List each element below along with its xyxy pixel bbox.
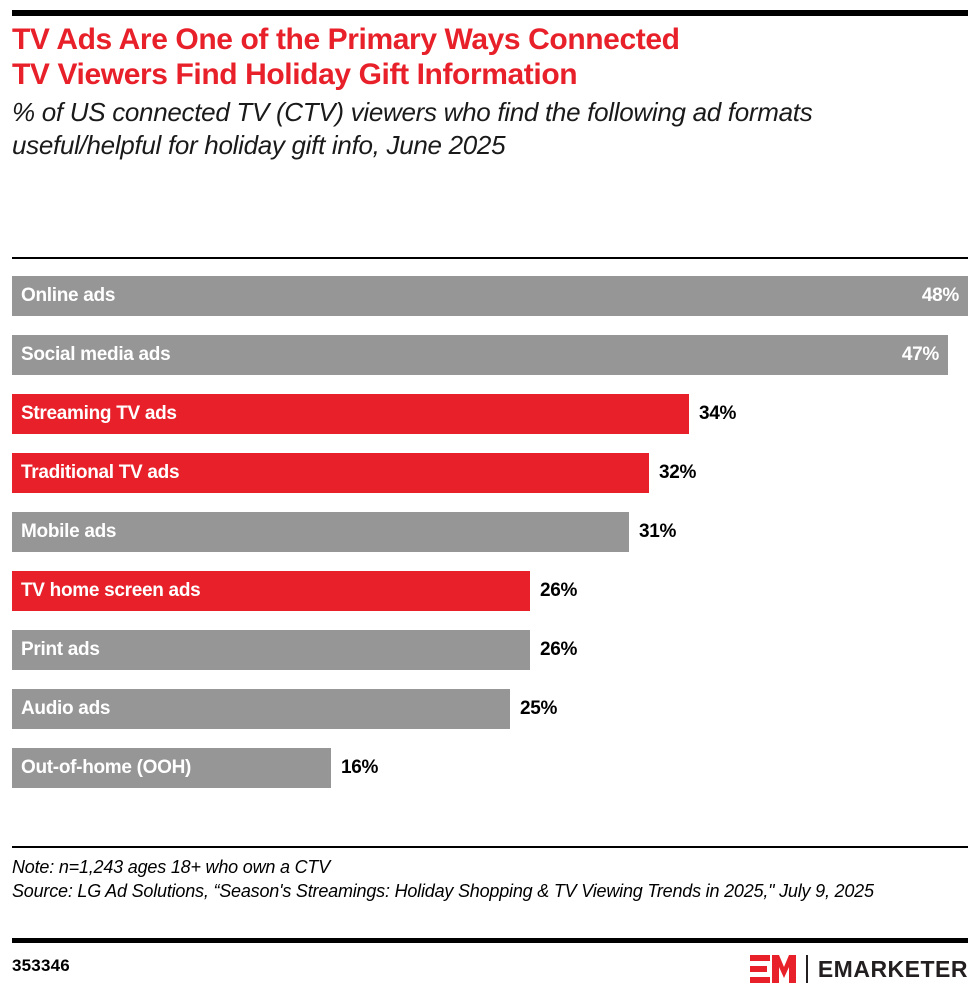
bar-category-label: Audio ads	[12, 698, 110, 720]
bar-row: Traditional TV ads32%	[12, 453, 968, 493]
top-rule	[12, 10, 968, 16]
chart-title: TV Ads Are One of the Primary Ways Conne…	[12, 22, 956, 92]
bar-value-label: 25%	[520, 698, 557, 720]
bar: Audio ads	[12, 689, 510, 729]
bar-row: Audio ads25%	[12, 689, 968, 729]
emarketer-logo: EMARKETER	[750, 952, 968, 986]
bar-category-label: Social media ads	[12, 344, 170, 366]
bar-category-label: Print ads	[12, 639, 100, 661]
bar-value-label: 34%	[699, 403, 736, 425]
bar-value-label: 32%	[659, 462, 696, 484]
source-line: Source: LG Ad Solutions, “Season's Strea…	[12, 879, 956, 903]
bar-value-label: 48%	[922, 285, 959, 307]
bar-category-label: Online ads	[12, 285, 115, 307]
bar-category-label: TV home screen ads	[12, 580, 200, 602]
bar-category-label: Out-of-home (OOH)	[12, 757, 191, 779]
logo-divider	[806, 955, 808, 983]
bar: Traditional TV ads	[12, 453, 649, 493]
bar: Out-of-home (OOH)	[12, 748, 331, 788]
em-monogram-icon	[750, 954, 796, 984]
bar: Mobile ads	[12, 512, 629, 552]
chart-page: TV Ads Are One of the Primary Ways Conne…	[0, 0, 980, 997]
footer-rule	[12, 938, 968, 943]
bar-row: Print ads26%	[12, 630, 968, 670]
bar-value-label: 31%	[639, 521, 676, 543]
bar: Print ads	[12, 630, 530, 670]
notes-divider-rule	[12, 846, 968, 848]
bar-row: Social media ads47%	[12, 335, 968, 375]
chart-notes: Note: n=1,243 ages 18+ who own a CTV Sou…	[12, 855, 956, 903]
note-line: Note: n=1,243 ages 18+ who own a CTV	[12, 855, 956, 879]
bar: Social media ads47%	[12, 335, 948, 375]
bar-row: Mobile ads31%	[12, 512, 968, 552]
bar-value-label: 47%	[902, 344, 939, 366]
brand-wordmark: EMARKETER	[818, 956, 968, 983]
chart-header: TV Ads Are One of the Primary Ways Conne…	[12, 22, 956, 162]
chart-footer: 353346 EMARKETER	[0, 952, 980, 992]
bar-row: Streaming TV ads34%	[12, 394, 968, 434]
bar-chart: Online ads48%Social media ads47%Streamin…	[0, 276, 980, 831]
header-divider-rule	[12, 257, 968, 259]
bar: Streaming TV ads	[12, 394, 689, 434]
bar-row: Out-of-home (OOH)16%	[12, 748, 968, 788]
bar-value-label: 26%	[540, 580, 577, 602]
bar: Online ads48%	[12, 276, 968, 316]
bar-row: Online ads48%	[12, 276, 968, 316]
chart-subtitle: % of US connected TV (CTV) viewers who f…	[12, 96, 956, 162]
bar-row: TV home screen ads26%	[12, 571, 968, 611]
bar-category-label: Traditional TV ads	[12, 462, 179, 484]
bar-category-label: Mobile ads	[12, 521, 116, 543]
bar: TV home screen ads	[12, 571, 530, 611]
bar-value-label: 26%	[540, 639, 577, 661]
bar-category-label: Streaming TV ads	[12, 403, 177, 425]
bar-value-label: 16%	[341, 757, 378, 779]
chart-id: 353346	[12, 956, 70, 976]
